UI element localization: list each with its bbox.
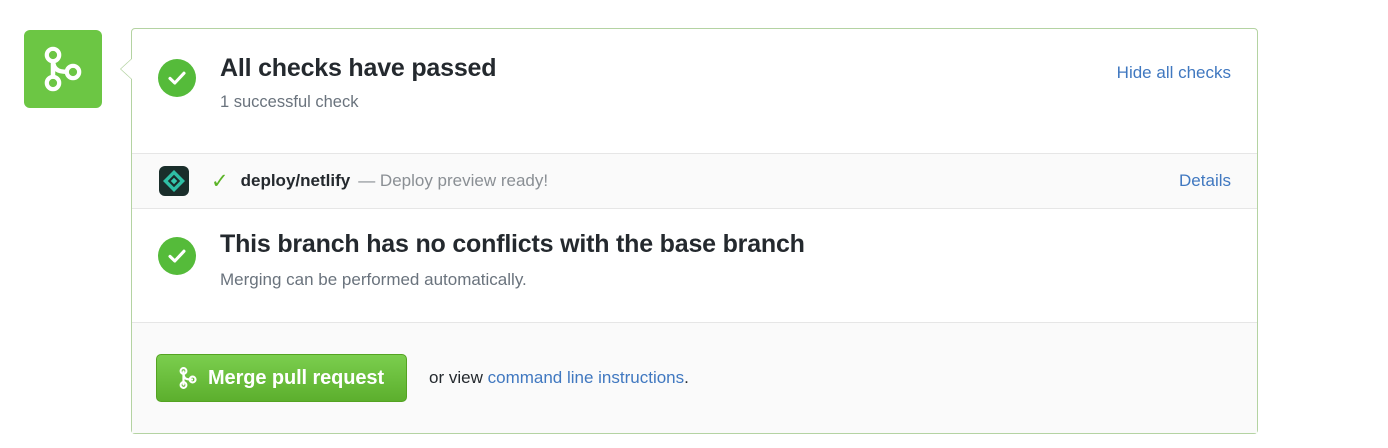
merge-pull-request-label: Merge pull request — [208, 367, 384, 390]
check-description: — Deploy preview ready! — [358, 171, 1179, 191]
hide-all-checks-link[interactable]: Hide all checks — [1117, 63, 1231, 83]
merge-status-badge — [24, 30, 102, 108]
check-circle-icon — [158, 59, 196, 97]
checks-summary-subtitle: 1 successful check — [220, 93, 1233, 112]
netlify-logo-icon — [159, 166, 189, 196]
conflict-status-subtitle: Merging can be performed automatically. — [220, 270, 1233, 290]
trailing-period: . — [684, 368, 689, 387]
conflict-status-section: This branch has no conflicts with the ba… — [132, 209, 1257, 322]
check-circle-icon — [158, 237, 196, 275]
or-view-text: or view — [429, 368, 483, 387]
merge-box: All checks have passed 1 successful chec… — [131, 28, 1258, 434]
merge-action-section: Merge pull request or view command line … — [132, 322, 1257, 433]
command-line-instructions-link[interactable]: command line instructions — [488, 368, 685, 387]
checks-summary-section: All checks have passed 1 successful chec… — [132, 29, 1257, 153]
check-icon: ✓ — [211, 171, 229, 192]
check-context-label: deploy/netlify — [241, 171, 351, 191]
git-merge-icon — [179, 367, 197, 389]
checks-summary-title: All checks have passed — [220, 55, 1233, 83]
check-details-link[interactable]: Details — [1179, 171, 1231, 191]
check-row[interactable]: ✓ deploy/netlify — Deploy preview ready!… — [132, 153, 1257, 209]
git-merge-icon — [43, 46, 83, 92]
merge-pull-request-button[interactable]: Merge pull request — [156, 354, 407, 402]
merge-status-panel: All checks have passed 1 successful chec… — [0, 0, 1388, 448]
conflict-status-title: This branch has no conflicts with the ba… — [220, 231, 1233, 259]
merge-alternative-text: or view command line instructions. — [429, 368, 689, 388]
